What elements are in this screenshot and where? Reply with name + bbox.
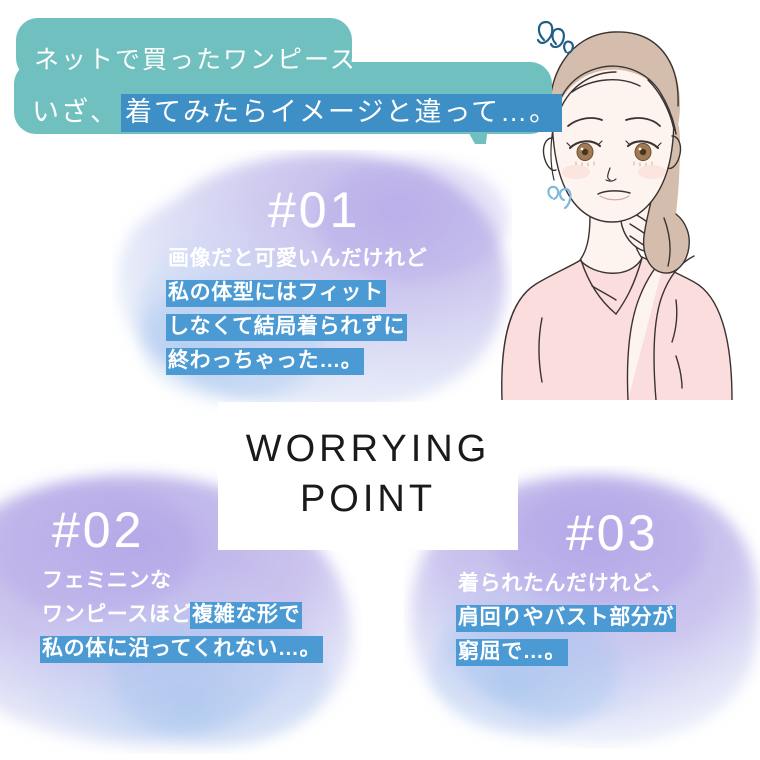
bubble-line-1: ネットで買ったワンピース: [34, 40, 357, 76]
sweat-mark-side: [548, 187, 570, 208]
point-02-body: フェミニンな ワンピースほど複雑な形で 私の体に沿ってくれない…。: [42, 565, 321, 667]
point-01-line-1: 画像だと可愛いんだけれど: [168, 243, 427, 275]
point-03-line-1: 着られたんだけれど、: [458, 568, 674, 600]
point-01-line-4: 終わっちゃった…。: [168, 345, 427, 377]
point-02-line-2: ワンピースほど複雑な形で: [42, 599, 321, 631]
point-03-body: 着られたんだけれど、 肩回りやバスト部分が 窮屈で…。: [458, 568, 674, 670]
point-02-line-3: 私の体に沿ってくれない…。: [42, 633, 321, 665]
bubble-line-2: いざ、着てみたらイメージと違って…。: [32, 90, 562, 129]
point-03-number: #03: [566, 508, 658, 558]
speech-bubble: ネットで買ったワンピース いざ、着てみたらイメージと違って…。: [14, 16, 554, 144]
point-01-number: #01: [268, 185, 360, 235]
point-02-number: #02: [52, 505, 144, 555]
point-03-line-2: 肩回りやバスト部分が: [458, 602, 674, 634]
center-heading-line-2: POINT: [218, 474, 518, 524]
worrying-point-graphic: ネットで買ったワンピース いざ、着てみたらイメージと違って…。 #01 画像だと…: [0, 0, 760, 760]
center-heading: WORRYING POINT: [218, 424, 518, 524]
center-heading-line-1: WORRYING: [218, 424, 518, 474]
point-01-line-2: 私の体型にはフィット: [168, 277, 427, 309]
bubble-line-2-highlight: 着てみたらイメージと違って…。: [121, 94, 562, 132]
point-01-body: 画像だと可愛いんだけれど 私の体型にはフィット しなくて結局着られずに 終わっち…: [168, 243, 427, 379]
point-02-line-1: フェミニンな: [42, 565, 321, 597]
point-03-line-3: 窮屈で…。: [458, 636, 674, 668]
point-01-line-3: しなくて結局着られずに: [168, 311, 427, 343]
bubble-line-2-plain: いざ、: [32, 97, 119, 127]
